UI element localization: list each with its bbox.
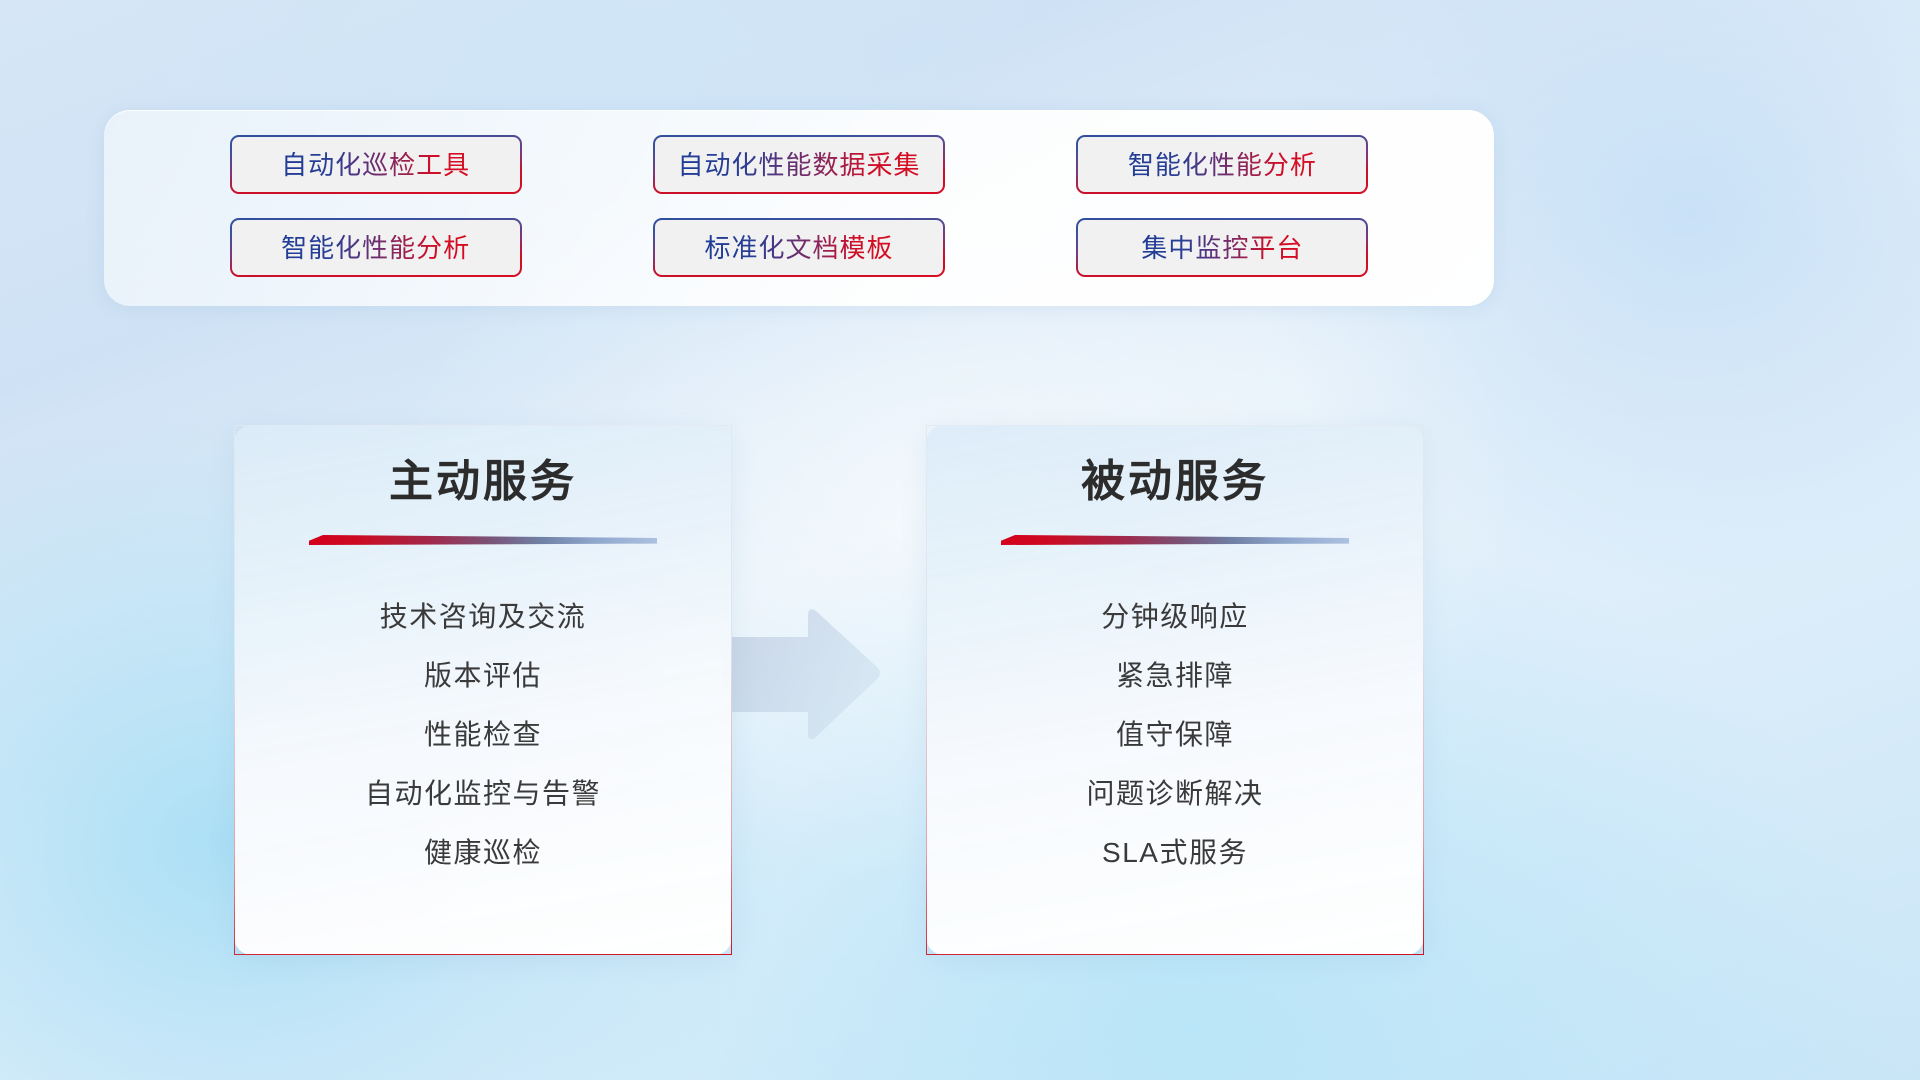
capability-chip-label: 自动化性能数据采集 <box>677 152 920 178</box>
capability-chip-grid: 自动化巡检工具 自动化性能数据采集 智能化性能分析 智能化性能分析 标准化文档模… <box>104 110 1494 306</box>
title-divider-bar <box>309 535 657 545</box>
flow-arrow <box>716 605 882 745</box>
service-card-proactive: 主动服务 技术咨询及交流 版本评估 性能检查 自动化监控与告警 健康巡检 <box>234 425 732 955</box>
title-divider <box>309 535 657 545</box>
list-item[interactable]: 技术咨询及交流 <box>380 587 587 646</box>
capability-chip[interactable]: 自动化性能数据采集 <box>653 135 945 194</box>
capability-chip-label: 标准化文档模板 <box>704 235 893 261</box>
service-card-reactive: 被动服务 分钟级响应 紧急排障 值守保障 问题诊断解决 SLA式服务 <box>926 425 1424 955</box>
capability-chip-label: 智能化性能分析 <box>281 235 470 261</box>
list-item[interactable]: 分钟级响应 <box>1101 587 1249 646</box>
capability-chip-label: 集中监控平台 <box>1141 235 1303 261</box>
capability-panel: 自动化巡检工具 自动化性能数据采集 智能化性能分析 智能化性能分析 标准化文档模… <box>104 110 1494 306</box>
capability-chip[interactable]: 集中监控平台 <box>1076 218 1368 277</box>
list-item[interactable]: 自动化监控与告警 <box>365 764 601 823</box>
list-item[interactable]: SLA式服务 <box>1102 823 1248 882</box>
slide-canvas: 自动化巡检工具 自动化性能数据采集 智能化性能分析 智能化性能分析 标准化文档模… <box>0 0 1920 1080</box>
service-item-list: 技术咨询及交流 版本评估 性能检查 自动化监控与告警 健康巡检 <box>235 587 731 882</box>
list-item[interactable]: 值守保障 <box>1116 705 1234 764</box>
capability-chip[interactable]: 智能化性能分析 <box>1076 135 1368 194</box>
title-divider-bar <box>1001 535 1349 545</box>
title-divider <box>1001 535 1349 545</box>
capability-chip-label: 智能化性能分析 <box>1128 152 1317 178</box>
capability-chip-label: 自动化巡检工具 <box>281 152 470 178</box>
card-title: 主动服务 <box>235 460 731 504</box>
capability-chip[interactable]: 标准化文档模板 <box>653 218 945 277</box>
list-item[interactable]: 问题诊断解决 <box>1086 764 1263 823</box>
service-item-list: 分钟级响应 紧急排障 值守保障 问题诊断解决 SLA式服务 <box>927 587 1423 882</box>
list-item[interactable]: 版本评估 <box>424 646 542 705</box>
list-item[interactable]: 健康巡检 <box>424 823 542 882</box>
list-item[interactable]: 性能检查 <box>424 705 542 764</box>
card-title: 被动服务 <box>927 460 1423 504</box>
capability-chip[interactable]: 自动化巡检工具 <box>230 135 522 194</box>
list-item[interactable]: 紧急排障 <box>1116 646 1234 705</box>
right-arrow-icon <box>716 605 882 745</box>
capability-chip[interactable]: 智能化性能分析 <box>230 218 522 277</box>
